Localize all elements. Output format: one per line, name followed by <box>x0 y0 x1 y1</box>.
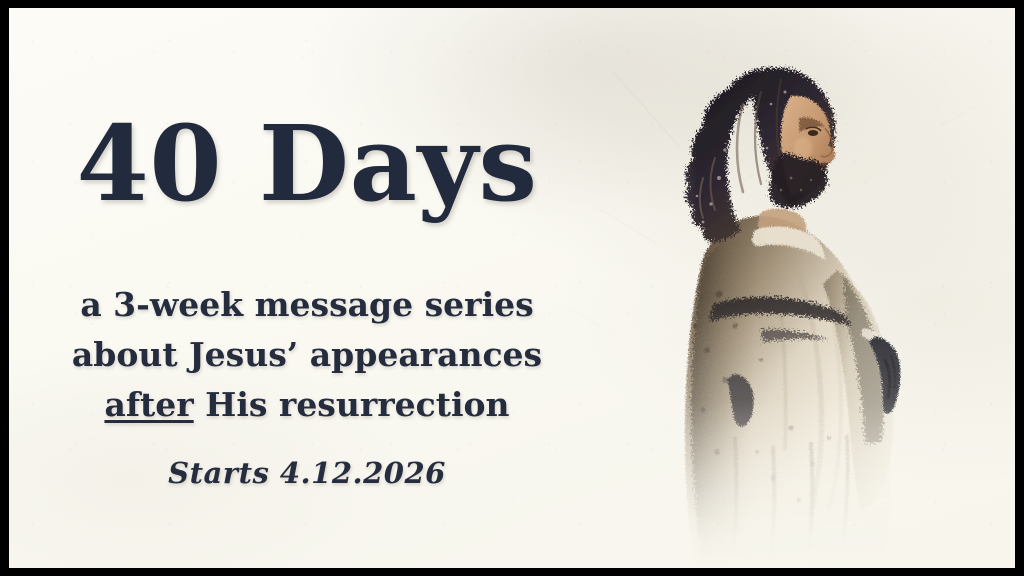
text-block: 40 Days a 3-week message series about Je… <box>9 8 629 568</box>
subtitle-underlined-word: after <box>104 385 193 424</box>
subtitle-line-3: after His resurrection <box>9 380 605 430</box>
subtitle: a 3-week message series about Jesus’ app… <box>9 280 605 430</box>
slide-canvas: 40 Days a 3-week message series about Je… <box>9 8 1015 568</box>
start-date: Starts 4.12.2026 <box>9 456 605 490</box>
figure-svg <box>585 8 1015 568</box>
subtitle-line-3-rest: His resurrection <box>194 385 510 424</box>
subtitle-line-1: a 3-week message series <box>9 280 605 330</box>
subtitle-line-2: about Jesus’ appearances <box>9 330 605 380</box>
page-title: 40 Days <box>9 112 605 216</box>
jesus-figure-illustration <box>585 8 1015 568</box>
slide-frame: 40 Days a 3-week message series about Je… <box>0 0 1024 576</box>
